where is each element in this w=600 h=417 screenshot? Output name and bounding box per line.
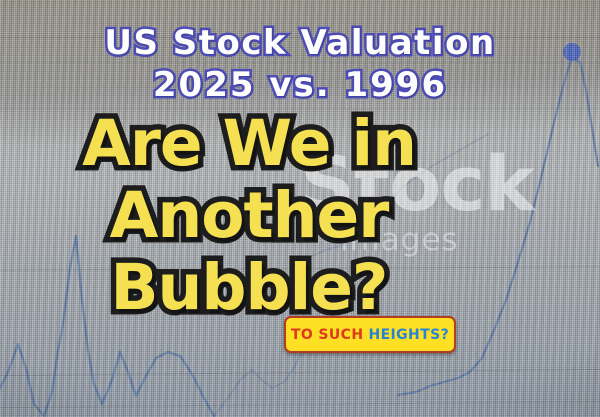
headline-block: Are We in Another Bubble? (14, 108, 484, 324)
headline-line-1: Are We in (14, 108, 484, 180)
badge-text-red: TO SUCH (291, 327, 364, 343)
subtitle-line-2: 2025 vs. 1996 (0, 64, 600, 106)
headline-line-3: Bubble? (14, 252, 484, 324)
to-such-heights-badge[interactable]: TO SUCH HEIGHTS? (284, 316, 456, 353)
badge-text-blue: HEIGHTS? (368, 327, 449, 343)
subtitle-block: US Stock Valuation 2025 vs. 1996 (0, 22, 600, 106)
subtitle-line-1: US Stock Valuation (0, 22, 600, 64)
thumbnail-canvas: Stock images US Stock Valuation 2025 vs.… (0, 0, 600, 417)
headline-line-2: Another (14, 180, 484, 252)
